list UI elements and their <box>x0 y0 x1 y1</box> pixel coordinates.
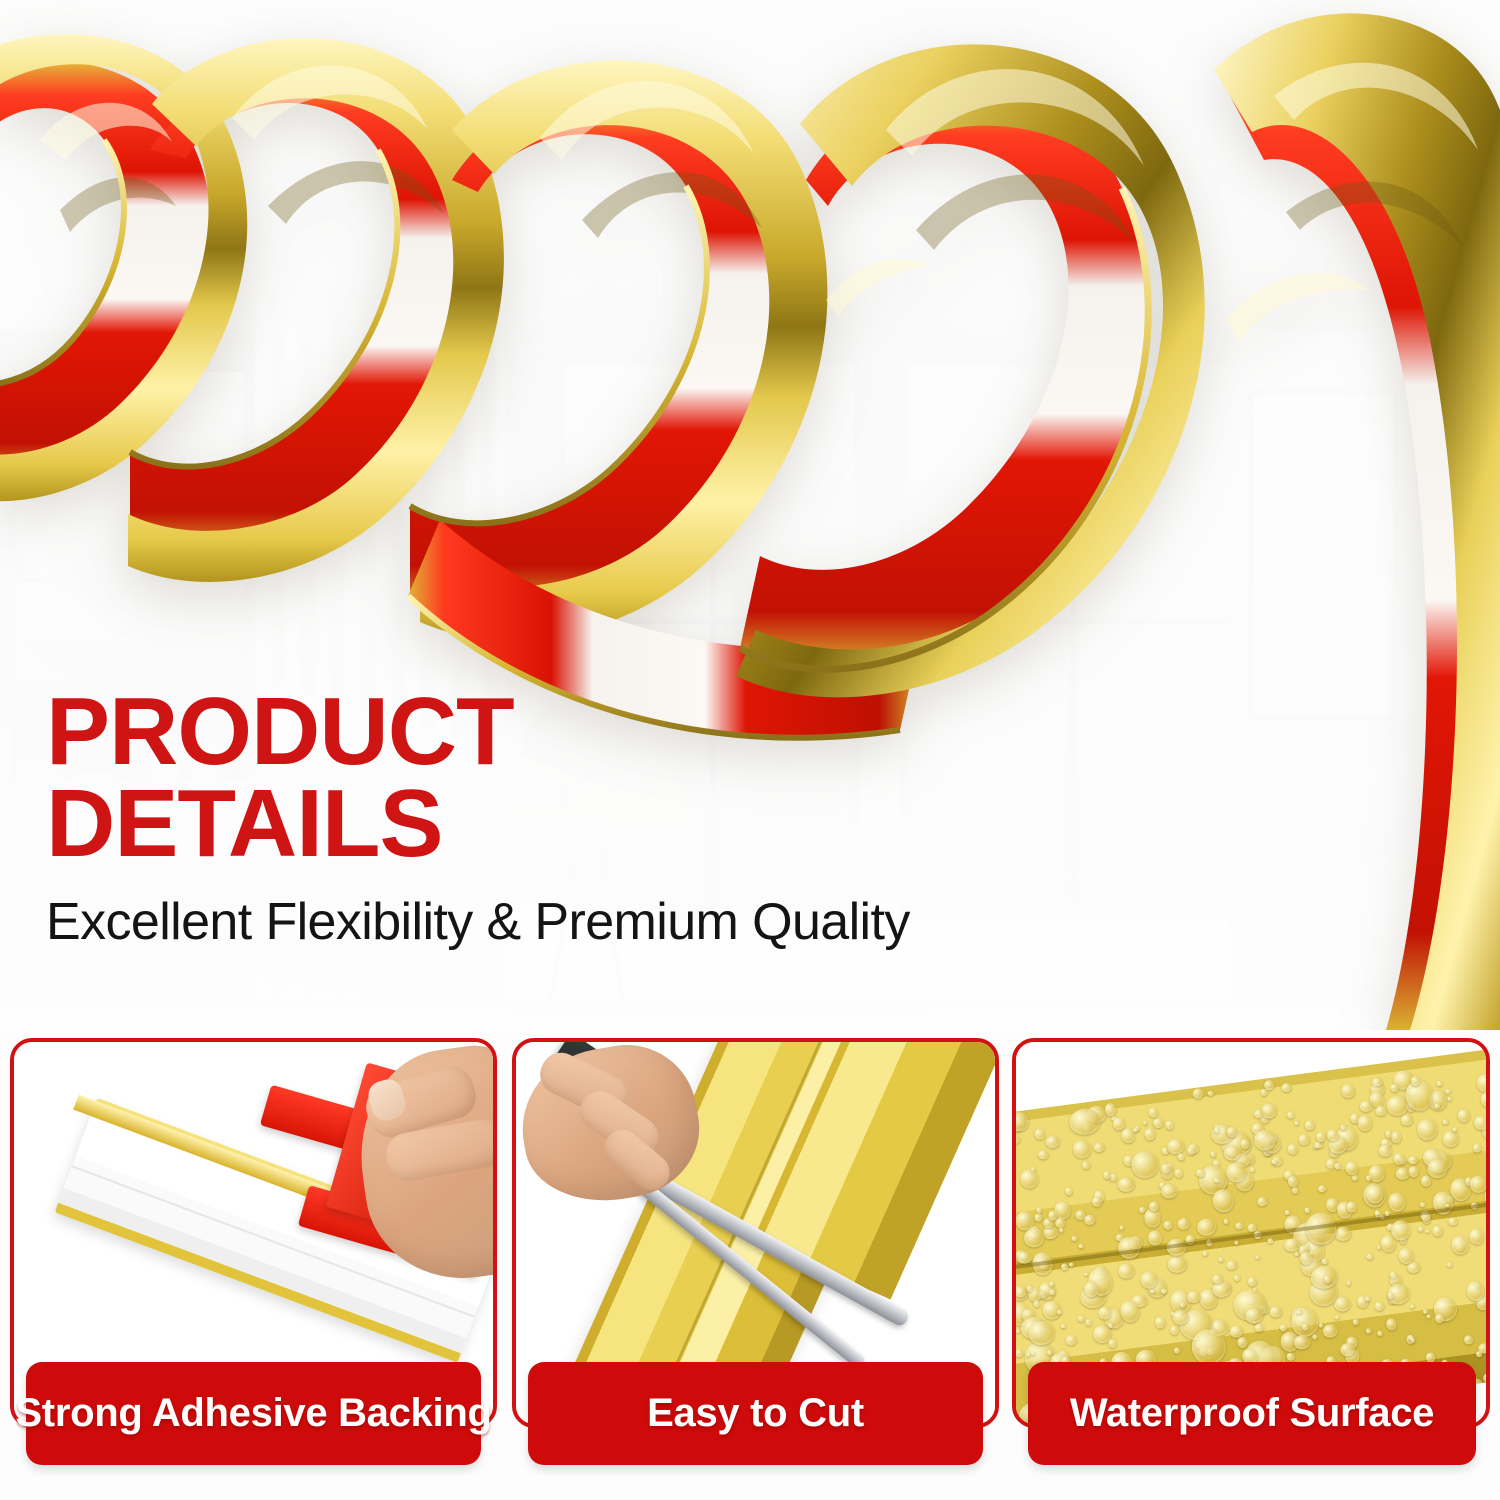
ribbon-coil-5-gold <box>1214 13 1500 1030</box>
caption-label: Easy to Cut <box>647 1391 864 1436</box>
page-subtitle: Excellent Flexibility & Premium Quality <box>46 892 1226 952</box>
caption-label: Strong Adhesive Backing <box>15 1391 491 1436</box>
caption-strong-adhesive-backing: Strong Adhesive Backing <box>26 1362 481 1465</box>
title-line-2: DETAILS <box>46 778 1226 870</box>
caption-waterproof-surface: Waterproof Surface <box>1028 1362 1476 1465</box>
caption-label: Waterproof Surface <box>1070 1391 1434 1436</box>
title-line-1: PRODUCT <box>46 678 514 785</box>
caption-easy-to-cut: Easy to Cut <box>528 1362 983 1465</box>
hero-section: PRODUCT DETAILS Excellent Flexibility & … <box>0 0 1500 1030</box>
title-block: PRODUCT DETAILS Excellent Flexibility & … <box>46 686 1226 952</box>
product-detail-infographic: PRODUCT DETAILS Excellent Flexibility & … <box>0 0 1500 1500</box>
page-title: PRODUCT DETAILS <box>46 686 1226 870</box>
